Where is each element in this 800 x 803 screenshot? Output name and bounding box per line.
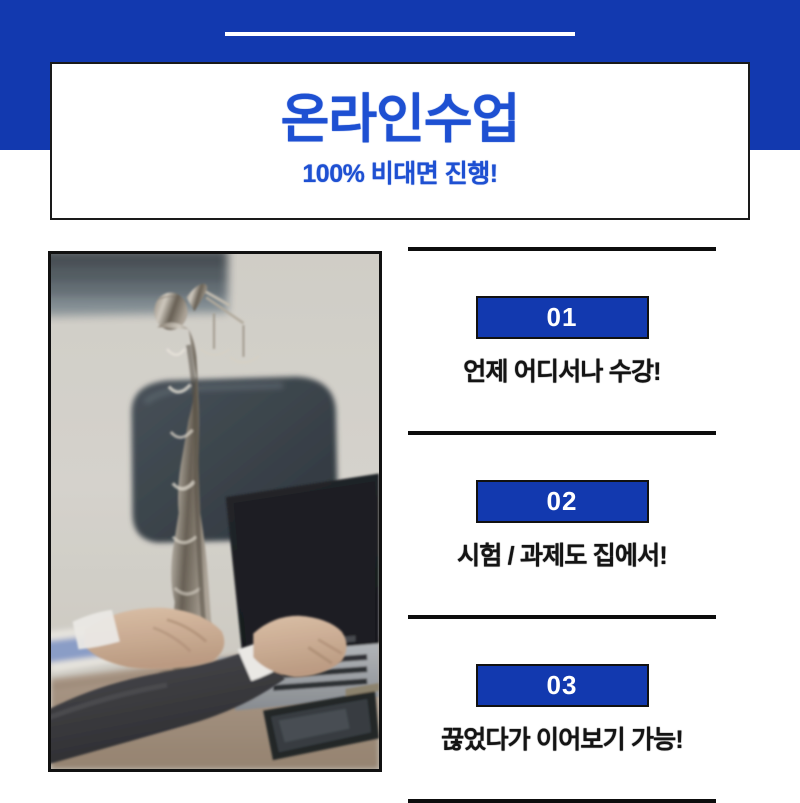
feature-number-01: 01 bbox=[547, 304, 578, 330]
page-title: 온라인수업 bbox=[281, 92, 520, 148]
feature-label-03: 끊었다가 이어보기 가능! bbox=[441, 727, 683, 755]
feature-item-03[interactable]: 03 끊었다가 이어보기 가능! bbox=[408, 619, 716, 799]
course-photo bbox=[48, 251, 382, 772]
feature-item-01[interactable]: 01 언제 어디서나 수강! bbox=[408, 251, 716, 431]
feature-number-02: 02 bbox=[547, 488, 578, 514]
feature-item-02[interactable]: 02 시험 / 과제도 집에서! bbox=[408, 435, 716, 615]
feature-badge-03: 03 bbox=[476, 664, 649, 707]
features-column: 01 언제 어디서나 수강! 02 시험 / 과제도 집에서! 03 끊었다가 … bbox=[408, 247, 716, 803]
title-card: 온라인수업 100% 비대면 진행! bbox=[50, 62, 750, 220]
feature-number-03: 03 bbox=[547, 672, 578, 698]
feature-badge-01: 01 bbox=[476, 296, 649, 339]
header-white-rule bbox=[225, 32, 575, 36]
course-photo-illustration bbox=[51, 254, 379, 769]
feature-label-02: 시험 / 과제도 집에서! bbox=[457, 543, 667, 571]
feature-label-01: 언제 어디서나 수강! bbox=[463, 359, 660, 387]
page-subtitle: 100% 비대면 진행! bbox=[302, 154, 497, 190]
feature-badge-02: 02 bbox=[476, 480, 649, 523]
